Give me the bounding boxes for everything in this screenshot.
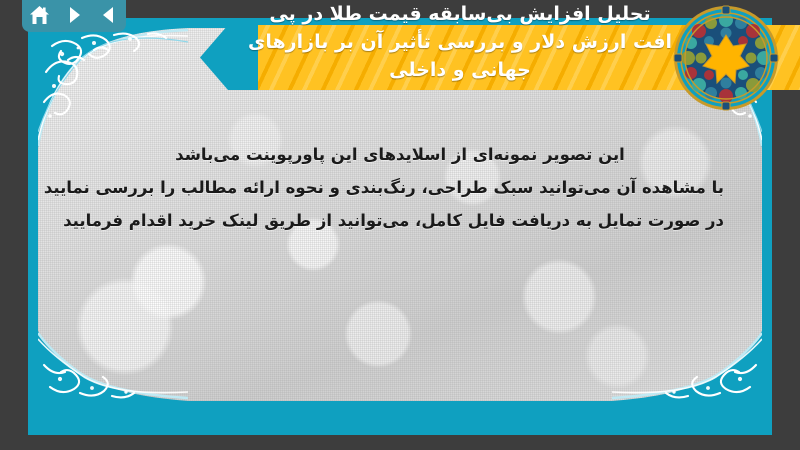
navigation-bar[interactable] <box>22 0 126 32</box>
body-line-1: این تصویر نمونه‌ای از اسلایدهای این پاور… <box>76 138 724 171</box>
slide-viewer: این تصویر نمونه‌ای از اسلایدهای این پاور… <box>0 0 800 450</box>
forward-button[interactable] <box>61 3 87 27</box>
slide-body-text: این تصویر نمونه‌ای از اسلایدهای این پاور… <box>76 138 724 237</box>
left-arrow-icon <box>99 5 119 25</box>
home-icon <box>29 5 50 26</box>
bottom-border-strip <box>38 401 762 435</box>
body-line-3: در صورت تمایل به دریافت فایل کامل، می‌تو… <box>76 204 724 237</box>
back-button[interactable] <box>96 3 122 27</box>
home-button[interactable] <box>26 3 52 27</box>
right-arrow-icon <box>64 5 84 25</box>
page-title: تحلیل افزایش بی‌سابقه قیمت طلا در پی افت… <box>210 0 710 84</box>
decorative-medallion-icon <box>672 4 780 112</box>
body-line-2: با مشاهده آن می‌توانید سبک طراحی، رنگ‌بن… <box>76 171 724 204</box>
